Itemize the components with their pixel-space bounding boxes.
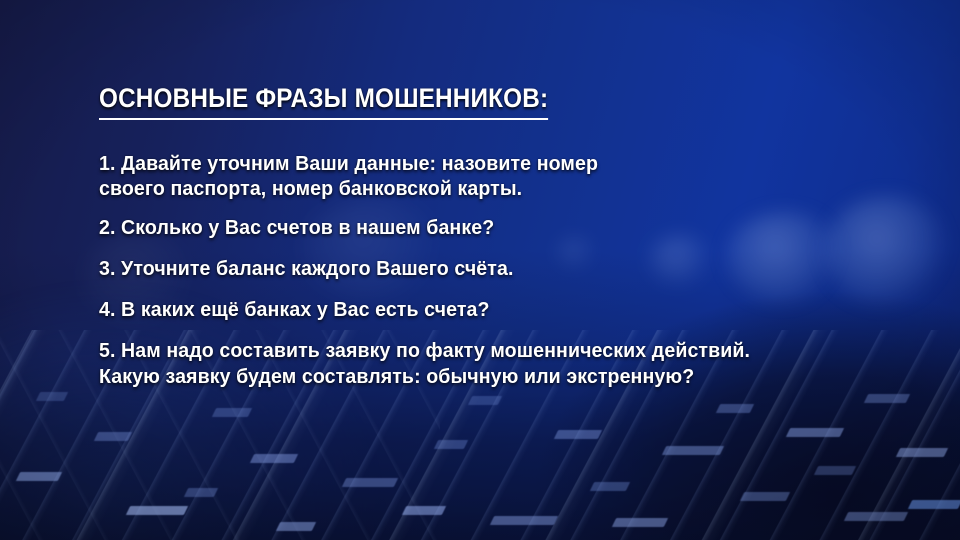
texture-block xyxy=(434,440,468,449)
texture-block xyxy=(16,472,62,481)
texture-block xyxy=(554,430,602,439)
content-block: ОСНОВНЫЕ ФРАЗЫ МОШЕННИКОВ: 1. Давайте ут… xyxy=(99,84,919,402)
texture-block xyxy=(94,432,132,441)
texture-block xyxy=(36,392,68,401)
texture-block xyxy=(896,448,948,457)
texture-block xyxy=(250,454,298,463)
texture-block xyxy=(276,522,316,531)
broadcast-graphic-slide: ОСНОВНЫЕ ФРАЗЫ МОШЕННИКОВ: 1. Давайте ут… xyxy=(0,0,960,540)
texture-block xyxy=(612,518,668,527)
fraudster-phrase-5: 5. Нам надо составить заявку по факту мо… xyxy=(99,338,882,390)
fraudster-phrase-2: 2. Сколько у Вас счетов в нашем банке? xyxy=(99,215,882,241)
page-title: ОСНОВНЫЕ ФРАЗЫ МОШЕННИКОВ: xyxy=(99,84,548,120)
texture-block xyxy=(184,488,218,497)
texture-block xyxy=(786,428,844,437)
texture-block xyxy=(126,506,188,515)
texture-block xyxy=(490,516,558,525)
texture-block xyxy=(662,446,724,455)
texture-block xyxy=(590,482,630,491)
fraudster-phrase-4: 4. В каких ещё банках у Вас есть счета? xyxy=(99,297,882,323)
texture-block xyxy=(716,404,754,413)
fraudster-phrase-3: 3. Уточните баланс каждого Вашего счёта. xyxy=(99,256,882,282)
texture-block xyxy=(402,506,446,515)
texture-block xyxy=(342,478,398,487)
fraudster-phrase-list: 1. Давайте уточним Ваши данные: назовите… xyxy=(99,151,919,390)
texture-block xyxy=(740,492,790,501)
texture-block xyxy=(908,500,960,509)
texture-block xyxy=(844,512,908,521)
texture-block xyxy=(814,466,856,475)
texture-block xyxy=(212,408,252,417)
fraudster-phrase-1: 1. Давайте уточним Ваши данные: назовите… xyxy=(99,151,882,203)
